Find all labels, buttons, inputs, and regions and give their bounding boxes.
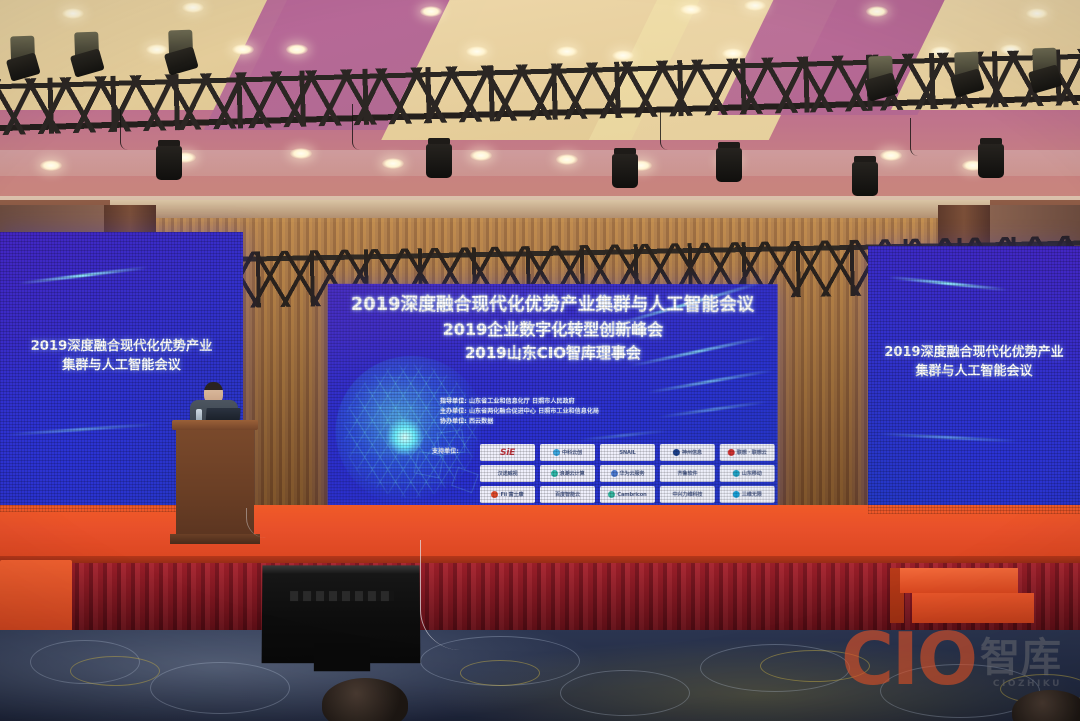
par-can-light bbox=[716, 142, 742, 182]
stage-cable bbox=[420, 540, 480, 650]
hanging-cable bbox=[120, 110, 138, 150]
sponsor-logo: 浪潮云计算 bbox=[540, 465, 595, 482]
left-screen-line-1: 2019深度融合现代化优势产业 bbox=[0, 337, 243, 356]
sponsor-logo: 汉诺威视 bbox=[480, 465, 535, 482]
downlight bbox=[556, 46, 578, 57]
organizer-value: 西云数据 bbox=[469, 418, 493, 425]
main-led-screen: 2019深度融合现代化优势产业集群与人工智能会议 2019企业数字化转型创新峰会… bbox=[328, 284, 778, 512]
carpet-pattern bbox=[560, 670, 690, 716]
organizer-row: 主办单位: 山东省两化融合促进中心 日照市工业和信息化局 bbox=[440, 407, 599, 417]
main-screen-headline: 2019深度融合现代化优势产业集群与人工智能会议 2019企业数字化转型创新峰会… bbox=[328, 294, 778, 363]
floor-display-monitor bbox=[262, 565, 421, 663]
par-can-light bbox=[426, 138, 452, 178]
light-streak bbox=[647, 369, 773, 394]
sponsor-section-label: 支持单位: bbox=[432, 446, 459, 455]
downlight bbox=[182, 2, 204, 13]
left-screen-text: 2019深度融合现代化优势产业 集群与人工智能会议 bbox=[0, 337, 243, 375]
podium-base bbox=[170, 534, 260, 544]
light-streak bbox=[18, 266, 147, 285]
light-streak bbox=[888, 276, 1008, 292]
sponsor-logo: 齐鲁软件 bbox=[660, 465, 715, 482]
downlight bbox=[470, 150, 492, 161]
moving-head-light bbox=[71, 31, 103, 78]
par-can-light bbox=[852, 156, 878, 196]
monitor-top-edge bbox=[262, 565, 419, 573]
podium bbox=[176, 424, 254, 542]
organizer-label: 协办单位: bbox=[440, 418, 467, 425]
hanging-cable bbox=[660, 110, 680, 150]
podium-top bbox=[172, 420, 258, 430]
downlight bbox=[1026, 8, 1048, 19]
light-streak bbox=[578, 429, 668, 441]
light-streak bbox=[658, 400, 767, 418]
sponsor-logo: SNAIL bbox=[600, 444, 655, 461]
organizer-row: 协办单位: 西云数据 bbox=[440, 417, 599, 427]
sponsor-logo: 中兴力维科技 bbox=[660, 486, 715, 503]
carpet-pattern bbox=[150, 662, 290, 714]
light-streak bbox=[6, 423, 156, 436]
right-screen-line-2: 集群与人工智能会议 bbox=[868, 363, 1080, 382]
downlight bbox=[722, 48, 744, 59]
sponsor-logo: 神州信息 bbox=[660, 444, 715, 461]
right-screen-text: 2019深度融合现代化优势产业 集群与人工智能会议 bbox=[868, 344, 1080, 382]
downlight bbox=[286, 44, 308, 55]
hanging-cable bbox=[910, 118, 928, 156]
organizer-row: 指导单位: 山东省工业和信息化厅 日照市人民政府 bbox=[440, 397, 599, 407]
sponsor-logo: 中科云创 bbox=[540, 444, 595, 461]
floor-carpet bbox=[0, 630, 1080, 721]
downlight bbox=[744, 0, 766, 11]
organizer-value: 山东省工业和信息化厅 日照市人民政府 bbox=[469, 398, 575, 405]
monitor-vent bbox=[290, 591, 394, 601]
downlight bbox=[62, 8, 84, 19]
downlight bbox=[382, 158, 404, 169]
carpet-gold-accent bbox=[460, 660, 540, 686]
audience-head bbox=[322, 678, 408, 721]
sponsor-logo-grid: SiE 中科云创 SNAIL 神州信息 联想 · 联想云 汉诺威视 浪潮云计算 … bbox=[480, 444, 775, 503]
downlight bbox=[232, 44, 254, 55]
light-streak bbox=[878, 432, 1018, 442]
moving-head-light bbox=[165, 29, 197, 76]
organizer-label: 指导单位: bbox=[440, 398, 467, 405]
left-screen-line-2: 集群与人工智能会议 bbox=[0, 356, 243, 375]
organizer-value: 山东省两化融合促进中心 日照市工业和信息化局 bbox=[469, 408, 599, 415]
moving-head-light bbox=[7, 35, 39, 82]
sponsor-logo: 三维无限 bbox=[720, 486, 775, 503]
par-can-light bbox=[978, 138, 1004, 178]
right-led-screen: 2019深度融合现代化优势产业 集群与人工智能会议 bbox=[868, 246, 1080, 514]
sponsor-logo: 联想 · 联想云 bbox=[720, 444, 775, 461]
sponsor-logo: SiE bbox=[480, 444, 535, 461]
downlight bbox=[680, 4, 702, 15]
right-screen-line-1: 2019深度融合现代化优势产业 bbox=[868, 344, 1080, 363]
monitor-stand bbox=[314, 643, 370, 671]
sponsor-logo: 华为云服务 bbox=[600, 465, 655, 482]
moving-head-light bbox=[1029, 47, 1061, 94]
par-can-light bbox=[156, 140, 182, 180]
headline-line-1: 2019深度融合现代化优势产业集群与人工智能会议 bbox=[328, 294, 778, 318]
sponsor-logo: 山东移动 bbox=[720, 465, 775, 482]
downlight bbox=[866, 6, 888, 17]
organizer-list: 指导单位: 山东省工业和信息化厅 日照市人民政府 主办单位: 山东省两化融合促进… bbox=[440, 397, 599, 427]
step-block-left bbox=[0, 560, 72, 638]
downlight bbox=[40, 160, 62, 171]
par-can-light bbox=[612, 148, 638, 188]
downlight bbox=[612, 50, 634, 61]
carpet-gold-accent bbox=[760, 650, 870, 682]
headline-line-3: 2019山东CIO智库理事会 bbox=[328, 343, 778, 363]
organizer-label: 主办单位: bbox=[440, 408, 467, 415]
conference-stage-photo: 2019深度融合现代化优势产业 集群与人工智能会议 2019深度融合现代化优势产… bbox=[0, 0, 1080, 721]
stair-lower-right bbox=[912, 593, 1034, 623]
sponsor-logo: Fii 富士康 bbox=[480, 486, 535, 503]
downlight bbox=[290, 148, 312, 159]
headline-line-2: 2019企业数字化转型创新峰会 bbox=[328, 319, 778, 341]
sponsor-logo: Cambricon bbox=[600, 486, 655, 503]
downlight bbox=[880, 150, 902, 161]
moving-head-light bbox=[951, 51, 983, 98]
carpet-gold-accent bbox=[70, 656, 160, 686]
stair-upper-right bbox=[900, 568, 1018, 593]
downlight bbox=[556, 154, 578, 165]
moving-head-light bbox=[865, 55, 897, 102]
sponsor-logo: 百度智能云 bbox=[540, 486, 595, 503]
hanging-cable bbox=[352, 104, 374, 150]
downlight bbox=[466, 46, 488, 57]
downlight bbox=[420, 6, 442, 17]
